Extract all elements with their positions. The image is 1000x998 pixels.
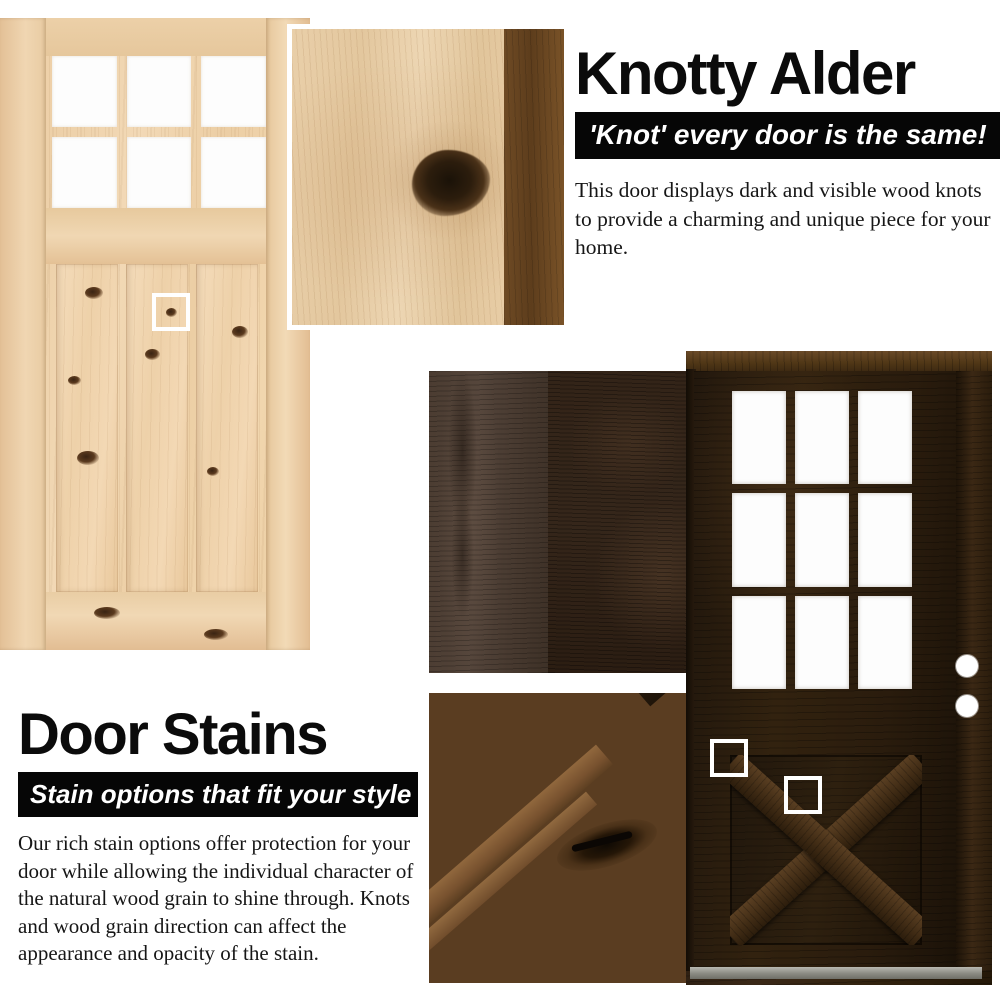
swatch-horizontal-grain-half [548,371,687,673]
dark-door-lite [858,596,912,689]
dark-door-lite [858,493,912,586]
light-door-lite [127,137,192,208]
wood-knot [85,287,103,299]
dark-door-lite [795,493,849,586]
dark-door-lite [732,391,786,484]
light-door-bottom-rail [46,592,266,650]
wood-knot [68,376,81,385]
dark-door-lite [732,596,786,689]
dark-stain-grain-swatch [424,366,692,678]
wood-knot [166,308,177,317]
wood-knot [77,451,99,465]
door-stains-heading: Door Stains [18,706,438,764]
door-deadbolt-bore-hole [956,695,978,717]
dark-door-head-jamb [686,351,992,371]
stain-callout-square [710,739,748,777]
dark-door-glass-grid [732,391,912,689]
warm-stain-grain-swatch [424,688,692,988]
door-stains-subheading-bar: Stain options that fit your style [18,772,418,817]
dark-door-lite [795,596,849,689]
knotty-alder-body-text: This door displays dark and visible wood… [575,176,1000,262]
light-door-left-stile [0,18,46,650]
stain-grain-callout-square [784,776,822,814]
swatch-cathedral-grain [441,366,484,678]
wood-knot [207,467,219,476]
wood-knot [204,629,228,640]
wood-knot [145,349,160,360]
light-door-lite [201,137,266,208]
light-door-mid-rail [46,208,266,264]
light-door-lite [52,137,117,208]
dark-door-lite [732,493,786,586]
stained-crossbuck-door-image [686,351,992,985]
light-door-top-rail [46,18,266,56]
knot-closeup-photo [287,24,569,330]
knotty-alder-light-door-image [0,18,310,650]
light-door-lite [127,56,192,127]
light-door-panel [196,264,258,592]
dark-door-crossbuck-panel [730,755,922,945]
knotty-alder-heading: Knotty Alder [575,44,1000,104]
knotty-alder-subheading-bar: 'Knot' every door is the same! [575,112,1000,159]
swatch-vertical-grain-half [429,371,548,673]
dark-door-threshold-sill [690,967,982,979]
infographic-canvas: Knotty Alder 'Knot' every door is the sa… [0,0,1000,998]
light-door-lite [52,56,117,127]
door-handle-bore-hole [956,655,978,677]
wood-knot [232,326,248,338]
wood-knot [94,607,120,619]
dark-door-lite [795,391,849,484]
knotty-alder-text-block: Knotty Alder 'Knot' every door is the sa… [575,44,1000,262]
light-door-glass-grid [52,56,266,208]
light-door-lite [201,56,266,127]
door-stains-text-block: Door Stains Stain options that fit your … [18,706,438,968]
dark-door-lite [858,391,912,484]
door-stains-body-text: Our rich stain options offer protection … [18,830,438,968]
light-door-panel [56,264,118,592]
